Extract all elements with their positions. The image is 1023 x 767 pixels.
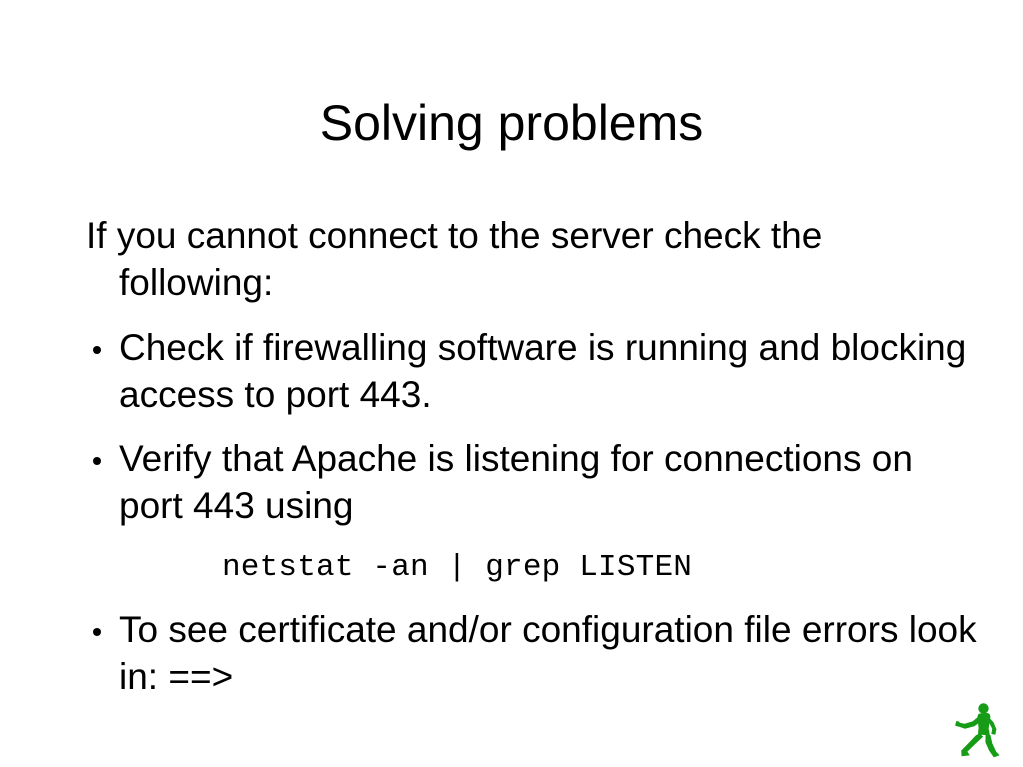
bullet-icon: [93, 457, 101, 465]
list-item-label: Check if firewalling software is running…: [119, 324, 984, 418]
list-item-label: To see certificate and/or configuration …: [119, 606, 984, 700]
list-item: Check if firewalling software is running…: [86, 324, 984, 418]
list-item: To see certificate and/or configuration …: [86, 606, 984, 700]
bullet-icon: [93, 628, 101, 636]
intro-paragraph: If you cannot connect to the server chec…: [86, 212, 984, 306]
command-code-line: netstat -an | grep LISTEN: [86, 546, 966, 590]
running-man-logo-icon: [952, 701, 1002, 759]
slide-body: If you cannot connect to the server chec…: [86, 212, 966, 717]
page-title: Solving problems: [0, 94, 1023, 152]
list-item: Verify that Apache is listening for conn…: [86, 435, 984, 529]
list-item-label: Verify that Apache is listening for conn…: [119, 435, 984, 529]
slide: Solving problems If you cannot connect t…: [0, 0, 1023, 767]
bullet-icon: [93, 346, 101, 354]
